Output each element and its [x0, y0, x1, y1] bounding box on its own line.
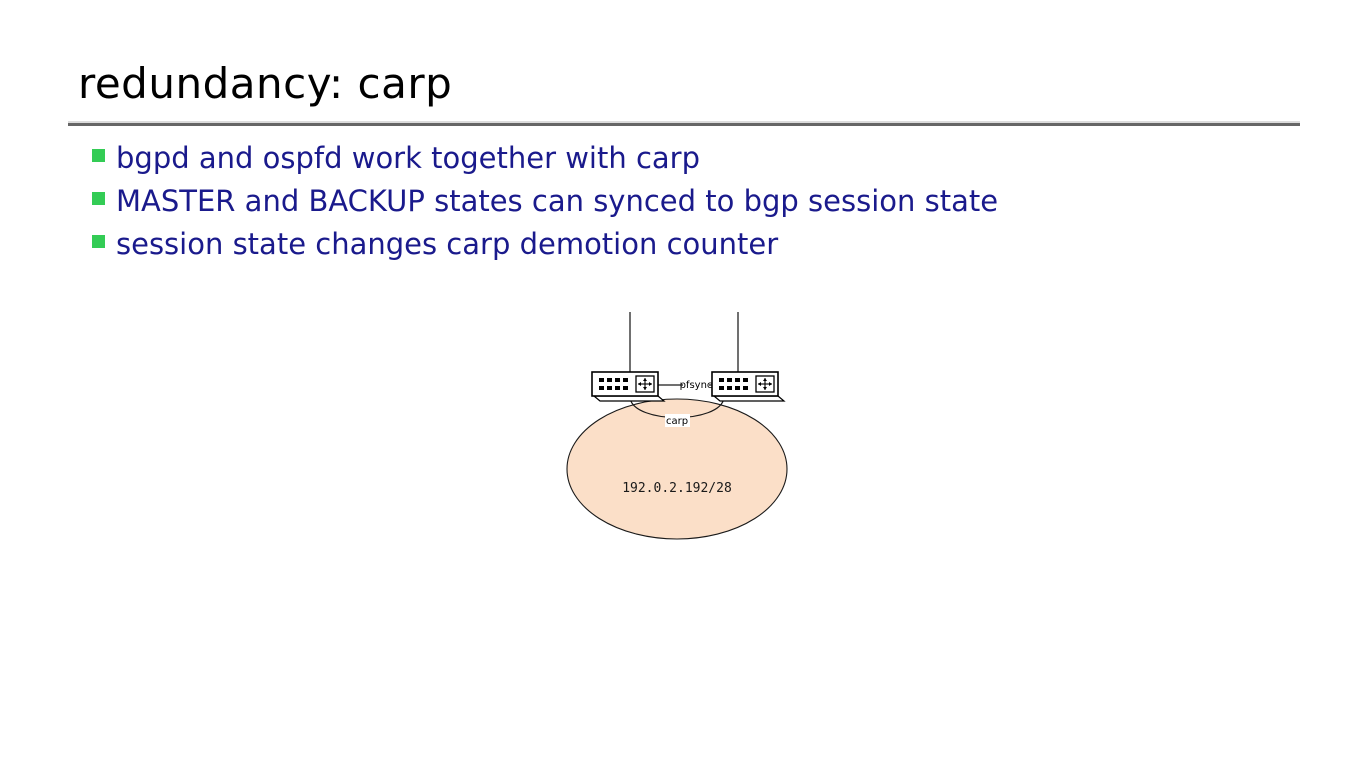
list-item: bgpd and ospfd work together with carp	[92, 138, 1292, 181]
bullet-list: bgpd and ospfd work together with carp M…	[92, 138, 1292, 267]
switch-arrows-icon-right	[756, 376, 774, 392]
bullet-text: MASTER and BACKUP states can synced to b…	[116, 181, 998, 221]
carp-label: carp	[666, 416, 688, 427]
square-bullet-icon	[92, 192, 105, 205]
switch-arrows-icon-left	[636, 376, 654, 392]
list-item: session state changes carp demotion coun…	[92, 224, 1292, 267]
pfsync-label: pfsync	[680, 380, 713, 391]
network-diagram: pfsync carp 192.0.2.192/28	[560, 300, 820, 560]
subnet-label: 192.0.2.192/28	[622, 481, 732, 496]
title-divider	[68, 121, 1300, 126]
bullet-text: bgpd and ospfd work together with carp	[116, 138, 700, 178]
slide-canvas: redundancy: carp bgpd and ospfd work tog…	[0, 0, 1366, 768]
square-bullet-icon	[92, 235, 105, 248]
square-bullet-icon	[92, 149, 105, 162]
list-item: MASTER and BACKUP states can synced to b…	[92, 181, 1292, 224]
bullet-text: session state changes carp demotion coun…	[116, 224, 778, 264]
firewall-right-device	[712, 372, 784, 401]
page-title: redundancy: carp	[78, 62, 452, 106]
firewall-left-device	[592, 372, 664, 401]
divider-shadow	[68, 123, 1300, 126]
